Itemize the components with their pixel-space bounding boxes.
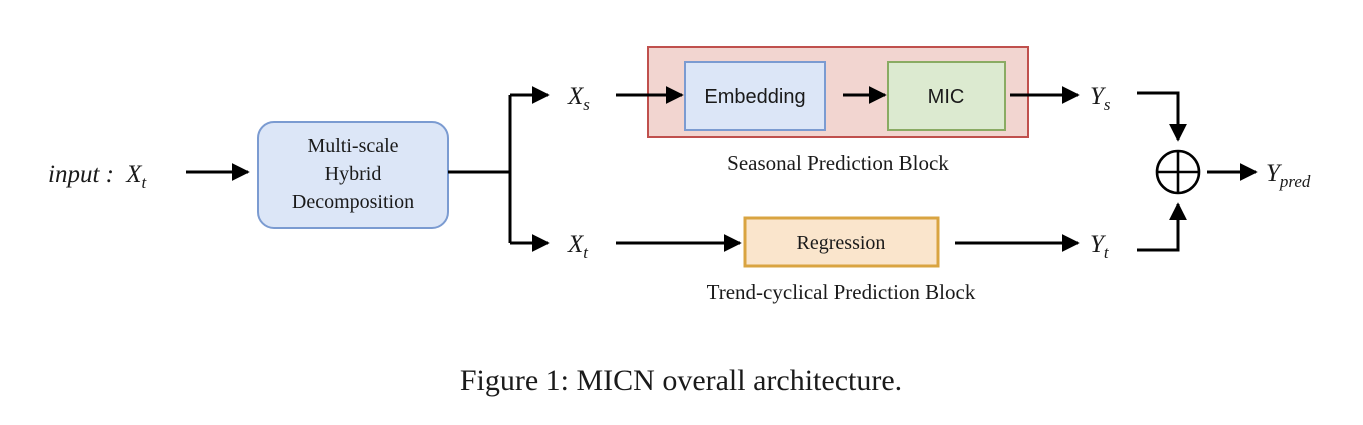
- seasonal-block-caption: Seasonal Prediction Block: [727, 151, 949, 175]
- architecture-diagram: input : Xt Multi-scale Hybrid Decomposit…: [0, 0, 1363, 425]
- input-label: input : Xt: [48, 161, 148, 192]
- decomposition-label-line1: Multi-scale: [307, 135, 398, 157]
- decomposition-label-line2: Hybrid: [325, 163, 382, 185]
- figure-caption: Figure 1: MICN overall architecture.: [460, 364, 902, 397]
- decomposition-label-line3: Decomposition: [292, 191, 414, 213]
- figure-container: input : Xt Multi-scale Hybrid Decomposit…: [0, 0, 1363, 425]
- trend-block-caption: Trend-cyclical Prediction Block: [707, 280, 976, 304]
- mic-label: MIC: [928, 86, 965, 108]
- embedding-label: Embedding: [704, 86, 805, 108]
- regression-label: Regression: [797, 232, 886, 254]
